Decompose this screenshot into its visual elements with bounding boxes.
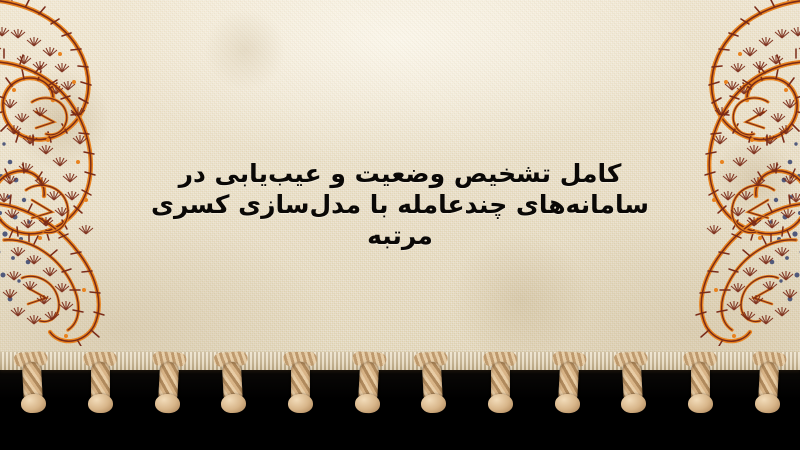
knotted-tassel-fringe: [0, 358, 800, 450]
boteh-outline-outer: [0, 0, 88, 140]
slide-canvas: کامل تشخیص وضعیت و عیب‌یابی در سامانه‌ها…: [0, 0, 800, 450]
tassel: [483, 358, 517, 450]
tassel-brush: [689, 408, 712, 448]
tassel: [747, 357, 786, 450]
stitch-comb-outer: [709, 0, 800, 145]
tassel: [683, 358, 717, 450]
tassel: [83, 358, 117, 450]
tassel-brush: [623, 407, 648, 448]
tassel-brush: [289, 408, 312, 448]
feather-fill-stitches: [0, 15, 93, 324]
tassel-brush: [553, 407, 578, 448]
tassel-brush: [489, 408, 512, 448]
boteh-outline-outer: [712, 0, 800, 140]
title-line-2: سامانه‌های چندعامله با مدل‌سازی کسری: [150, 189, 650, 220]
stitch-comb-outer: [0, 0, 91, 145]
tassel: [147, 357, 186, 450]
tassel: [614, 357, 653, 450]
slide-title-block: کامل تشخیص وضعیت و عیب‌یابی در سامانه‌ها…: [150, 158, 650, 251]
title-line-3: مرتبه: [150, 220, 650, 251]
tassel: [414, 357, 453, 450]
tassel-brush: [353, 407, 378, 448]
tassel: [214, 357, 253, 450]
tassel-brush: [223, 407, 248, 448]
tassel-brush: [153, 407, 178, 448]
tassel-brush: [423, 407, 448, 448]
tassel: [283, 358, 317, 450]
title-line-1: کامل تشخیص وضعیت و عیب‌یابی در: [150, 158, 650, 189]
feather-fill-stitches: [707, 15, 800, 324]
tassel: [14, 357, 53, 450]
tassel: [547, 357, 586, 450]
tassel: [347, 357, 386, 450]
tassel-brush: [89, 408, 112, 448]
tassel-brush: [23, 407, 48, 448]
tassel-brush: [753, 407, 778, 448]
